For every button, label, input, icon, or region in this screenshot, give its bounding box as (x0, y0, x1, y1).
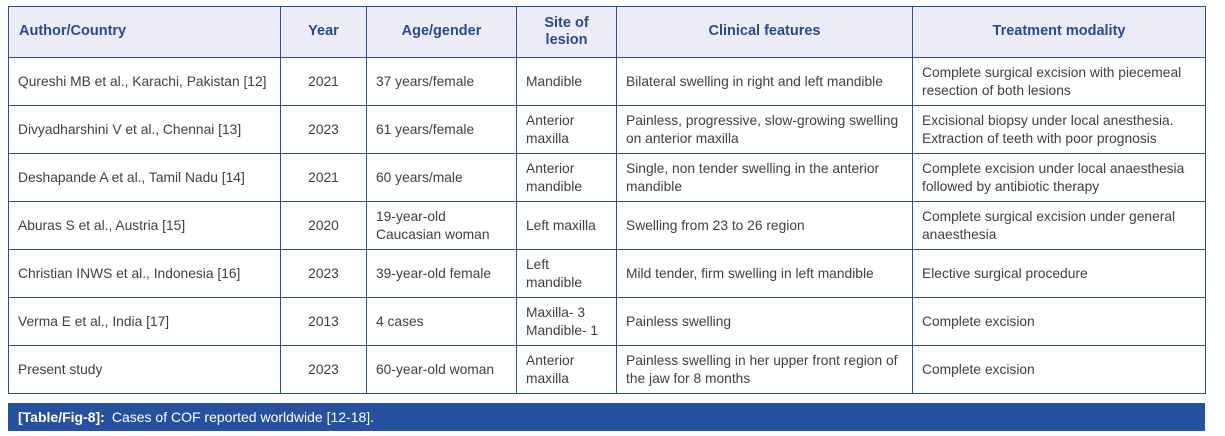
header-row: Author/Country Year Age/gender Site of l… (9, 7, 1206, 58)
cell-year: 2023 (281, 346, 367, 394)
table-row: Deshapande A et al., Tamil Nadu [14] 202… (9, 154, 1206, 202)
column-header-treatment-modality: Treatment modality (913, 7, 1206, 58)
column-header-site-of-lesion: Site of lesion (517, 7, 617, 58)
cell-age-gender: 60 years/male (367, 154, 517, 202)
column-header-age-gender: Age/gender (367, 7, 517, 58)
table-figure-page: Author/Country Year Age/gender Site of l… (0, 0, 1225, 436)
cell-treatment-modality: Complete surgical excision under general… (913, 202, 1206, 250)
cell-site-of-lesion: Mandible (517, 58, 617, 106)
cell-treatment-modality: Excisional biopsy under local anesthesia… (913, 106, 1206, 154)
column-header-author-country: Author/Country (9, 7, 281, 58)
cell-clinical-features: Swelling from 23 to 26 region (617, 202, 913, 250)
cell-author-country: Verma E et al., India [17] (9, 298, 281, 346)
table-row: Qureshi MB et al., Karachi, Pakistan [12… (9, 58, 1206, 106)
table-header: Author/Country Year Age/gender Site of l… (9, 7, 1206, 58)
cell-age-gender: 19-year-old Caucasian woman (367, 202, 517, 250)
cell-year: 2021 (281, 58, 367, 106)
table-row: Divyadharshini V et al., Chennai [13] 20… (9, 106, 1206, 154)
table-row: Christian INWS et al., Indonesia [16] 20… (9, 250, 1206, 298)
cell-site-of-lesion: Left maxilla (517, 202, 617, 250)
cell-author-country: Christian INWS et al., Indonesia [16] (9, 250, 281, 298)
cell-treatment-modality: Complete surgical excision with piecemea… (913, 58, 1206, 106)
column-header-year: Year (281, 7, 367, 58)
table-caption-bar: [Table/Fig-8]: Cases of COF reported wor… (8, 403, 1205, 431)
cases-of-cof-table: Author/Country Year Age/gender Site of l… (8, 6, 1206, 394)
cell-year: 2021 (281, 154, 367, 202)
cell-age-gender: 4 cases (367, 298, 517, 346)
cell-site-of-lesion: Anterior maxilla (517, 346, 617, 394)
caption-figure-label: [Table/Fig-8]: (18, 409, 105, 425)
cell-clinical-features: Painless swelling in her upper front reg… (617, 346, 913, 394)
cell-age-gender: 60-year-old woman (367, 346, 517, 394)
cell-clinical-features: Mild tender, firm swelling in left mandi… (617, 250, 913, 298)
cell-clinical-features: Single, non tender swelling in the anter… (617, 154, 913, 202)
cell-age-gender: 37 years/female (367, 58, 517, 106)
cell-clinical-features: Painless swelling (617, 298, 913, 346)
column-header-clinical-features: Clinical features (617, 7, 913, 58)
cell-site-of-lesion: Left mandible (517, 250, 617, 298)
cell-site-of-lesion: Maxilla- 3 Mandible- 1 (517, 298, 617, 346)
table-row: Present study 2023 60-year-old woman Ant… (9, 346, 1206, 394)
cell-site-of-lesion: Anterior mandible (517, 154, 617, 202)
cases-table-wrapper: Author/Country Year Age/gender Site of l… (8, 6, 1205, 394)
column-header-site-line1: Site of (544, 15, 588, 31)
cell-clinical-features: Painless, progressive, slow-growing swel… (617, 106, 913, 154)
cell-author-country: Divyadharshini V et al., Chennai [13] (9, 106, 281, 154)
cell-year: 2013 (281, 298, 367, 346)
cell-year: 2023 (281, 106, 367, 154)
column-header-site-line2: lesion (546, 32, 588, 48)
table-row: Verma E et al., India [17] 2013 4 cases … (9, 298, 1206, 346)
cell-author-country: Qureshi MB et al., Karachi, Pakistan [12… (9, 58, 281, 106)
table-body: Qureshi MB et al., Karachi, Pakistan [12… (9, 58, 1206, 394)
cell-year: 2020 (281, 202, 367, 250)
cell-treatment-modality: Complete excision (913, 298, 1206, 346)
cell-age-gender: 61 years/female (367, 106, 517, 154)
cell-treatment-modality: Complete excision (913, 346, 1206, 394)
cell-year: 2023 (281, 250, 367, 298)
caption-description: Cases of COF reported worldwide [12-18]. (112, 409, 374, 425)
cell-site-of-lesion: Anterior maxilla (517, 106, 617, 154)
cell-clinical-features: Bilateral swelling in right and left man… (617, 58, 913, 106)
cell-author-country: Present study (9, 346, 281, 394)
cell-author-country: Deshapande A et al., Tamil Nadu [14] (9, 154, 281, 202)
cell-author-country: Aburas S et al., Austria [15] (9, 202, 281, 250)
table-row: Aburas S et al., Austria [15] 2020 19-ye… (9, 202, 1206, 250)
cell-treatment-modality: Elective surgical procedure (913, 250, 1206, 298)
cell-age-gender: 39-year-old female (367, 250, 517, 298)
cell-treatment-modality: Complete excision under local anaesthesi… (913, 154, 1206, 202)
